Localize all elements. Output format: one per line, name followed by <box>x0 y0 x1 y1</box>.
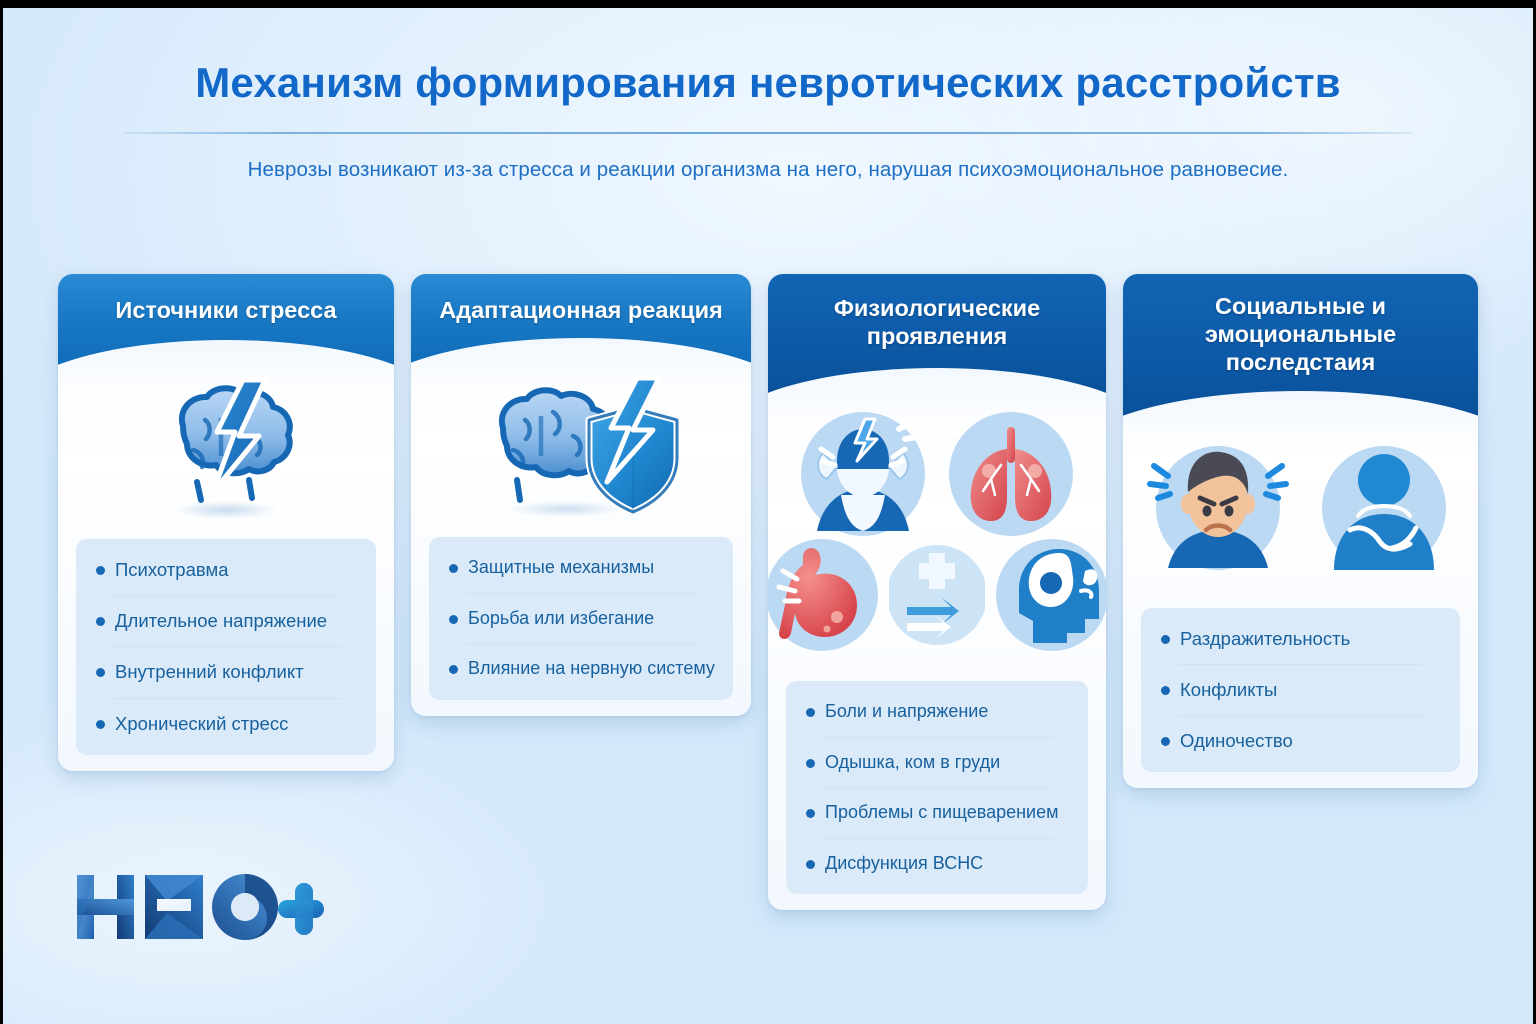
list-item-label: Борьба или избегание <box>468 607 654 630</box>
list-item-label: Боли и напряжение <box>825 700 988 723</box>
card-header: Социальные и эмоциональные последстаия <box>1123 274 1478 417</box>
bullet-dot <box>449 564 458 573</box>
card-bullet-list: Защитные механизмы Борьба или избегание … <box>429 536 733 700</box>
head-vertigo-icon <box>993 535 1106 655</box>
infographic-canvas: Механизм формирования невротических расс… <box>0 0 1536 1024</box>
bullet-dot <box>806 860 815 869</box>
card-sources-of-stress[interactable]: Источники стресса <box>58 274 394 771</box>
bullet-dot <box>806 708 815 717</box>
card-header: Источники стресса <box>58 274 394 366</box>
list-item-label: Защитные механизмы <box>468 556 654 579</box>
list-item[interactable]: Конфликты <box>1141 664 1456 715</box>
angry-person-icon <box>1138 432 1298 582</box>
list-item[interactable]: Психотравма <box>76 544 372 595</box>
bullet-dot <box>449 665 458 674</box>
bullet-dot <box>449 615 458 624</box>
list-item-label: Дисфункция ВСНС <box>825 852 983 875</box>
logo-letter-e <box>145 875 203 939</box>
neo-plus-logo <box>73 867 325 954</box>
page-title: Механизм формирования невротических расс… <box>3 60 1533 106</box>
bullet-dot <box>96 668 105 677</box>
page-header: Механизм формирования невротических расс… <box>3 60 1533 182</box>
card-illustration <box>768 396 1106 668</box>
list-item[interactable]: Влияние на нервную систему <box>429 643 729 694</box>
lonely-person-icon <box>1304 432 1464 582</box>
title-divider <box>123 132 1413 134</box>
list-item[interactable]: Одиночество <box>1141 715 1456 766</box>
list-item[interactable]: Внутренний конфликт <box>76 646 372 697</box>
card-title: Физиологические проявления <box>834 295 1040 349</box>
list-item[interactable]: Проблемы с пищеварением <box>786 787 1084 838</box>
logo-letter-n <box>77 875 134 939</box>
logo-letter-o <box>212 874 278 940</box>
list-item[interactable]: Боли и напряжение <box>786 686 1084 737</box>
list-item-label: Одиночество <box>1180 729 1293 752</box>
list-item-label: Психотравма <box>115 558 228 581</box>
list-item[interactable]: Раздражительность <box>1141 613 1456 664</box>
card-illustration <box>411 368 751 526</box>
bullet-dot <box>1161 737 1170 746</box>
card-title: Социальные и эмоциональные последстаия <box>1205 293 1396 375</box>
card-header: Физиологические проявления <box>768 274 1106 394</box>
bullet-dot <box>96 720 105 729</box>
bullet-dot <box>806 759 815 768</box>
card-adaptive-reaction[interactable]: Адаптационная реакция <box>411 274 751 716</box>
card-illustration <box>1123 423 1478 591</box>
card-social-emotional-consequences[interactable]: Социальные и эмоциональные последстаия <box>1123 274 1478 788</box>
icon-row-top <box>793 409 1081 539</box>
list-item[interactable]: Одышка, ком в груди <box>786 737 1084 788</box>
logo-plus-sign <box>278 883 324 935</box>
headache-person-icon <box>793 409 933 539</box>
arrows-plus-icon <box>889 535 985 655</box>
lungs-icon <box>941 409 1081 539</box>
logo-mark <box>73 867 325 949</box>
stomach-icon <box>768 535 881 655</box>
list-item[interactable]: Длительное напряжение <box>76 595 372 646</box>
list-item-label: Длительное напряжение <box>115 609 327 632</box>
list-item[interactable]: Хронический стресс <box>76 698 372 749</box>
card-header: Адаптационная реакция <box>411 274 751 364</box>
list-item-label: Раздражительность <box>1180 627 1350 650</box>
card-title: Источники стресса <box>115 297 336 323</box>
card-bullet-list: Боли и напряжение Одышка, ком в груди Пр… <box>786 680 1088 894</box>
bullet-dot <box>96 566 105 575</box>
brain-shield-icon <box>461 372 701 522</box>
bullet-dot <box>806 809 815 818</box>
card-illustration <box>58 370 394 528</box>
list-item-label: Хронический стресс <box>115 712 288 735</box>
list-item-label: Внутренний конфликт <box>115 660 304 683</box>
page-subtitle: Неврозы возникают из-за стресса и реакци… <box>3 158 1533 182</box>
brain-icon <box>131 374 321 524</box>
card-bullet-list: Раздражительность Конфликты Одиночество <box>1141 607 1460 772</box>
card-physiological-manifestations[interactable]: Физиологические проявления <box>768 274 1106 910</box>
list-item-label: Проблемы с пищеварением <box>825 801 1058 824</box>
list-item[interactable]: Борьба или избегание <box>429 593 729 644</box>
icon-row-bottom <box>768 535 1106 655</box>
list-item[interactable]: Дисфункция ВСНС <box>786 838 1084 889</box>
bullet-dot <box>1161 635 1170 644</box>
list-item-label: Влияние на нервную систему <box>468 657 715 680</box>
card-row: Источники стресса <box>58 274 1486 910</box>
bullet-dot <box>1161 686 1170 695</box>
list-item[interactable]: Защитные механизмы <box>429 542 729 593</box>
list-item-label: Конфликты <box>1180 678 1277 701</box>
card-bullet-list: Психотравма Длительное напряжение Внутре… <box>76 538 376 755</box>
card-title: Адаптационная реакция <box>439 297 723 323</box>
bullet-dot <box>96 617 105 626</box>
list-item-label: Одышка, ком в груди <box>825 751 1000 774</box>
